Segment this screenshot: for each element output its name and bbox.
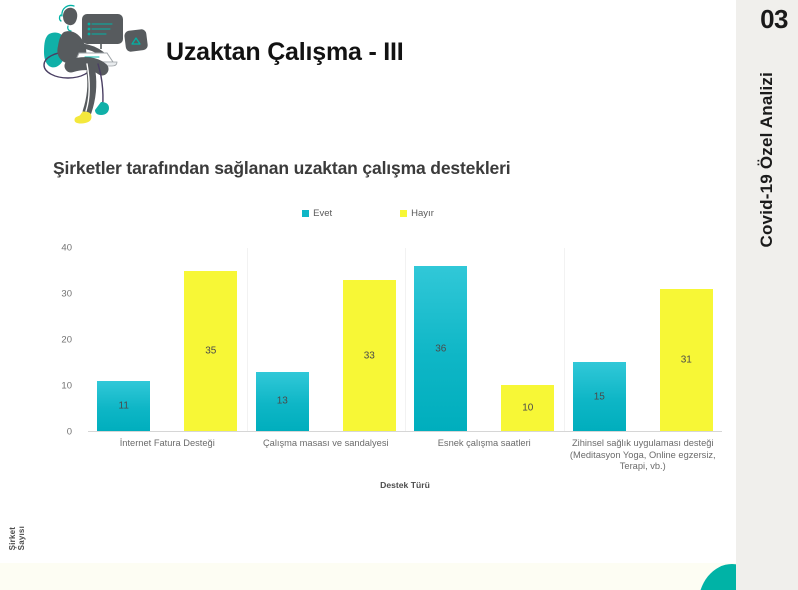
bar-groups: 11 35 13 33 — [88, 248, 722, 431]
legend-item-evet: Evet — [302, 208, 332, 219]
page-title: Uzaktan Çalışma - III — [166, 38, 404, 67]
x-axis-title: Destek Türü — [88, 480, 722, 490]
bar-value: 15 — [573, 391, 626, 402]
y-tick-10: 10 — [61, 381, 72, 392]
x-category-label: Esnek çalışma saatleri — [405, 438, 564, 473]
bar-value: 35 — [184, 345, 237, 356]
x-category-label: Çalışma masası ve sandalyesi — [247, 438, 406, 473]
chart-legend: Evet Hayır — [0, 208, 736, 219]
y-tick-40: 40 — [61, 243, 72, 254]
bar-group: 11 35 — [88, 248, 247, 431]
bar-value: 36 — [414, 343, 467, 354]
bar-group: 13 33 — [247, 248, 406, 431]
x-category-label: Zihinsel sağlık uygulaması desteği (Medi… — [564, 438, 723, 473]
plot-area: 11 35 13 33 — [88, 248, 722, 432]
x-category-label: İnternet Fatura Desteği — [88, 438, 247, 473]
slide-canvas: 03 Covid-19 Özel Analizi — [0, 0, 798, 590]
bar-hayir: 33 — [343, 280, 396, 431]
y-tick-20: 20 — [61, 335, 72, 346]
section-vertical-title: Covid-19 Özel Analizi — [757, 72, 777, 248]
chart-title: Şirketler tarafından sağlanan uzaktan ça… — [53, 158, 511, 179]
y-axis-ticks: 40 30 20 10 0 — [42, 248, 78, 432]
slide-header: Uzaktan Çalışma - III — [0, 0, 736, 140]
legend-item-hayir: Hayır — [400, 208, 434, 219]
bottom-cream-band — [0, 563, 736, 590]
bar-evet: 13 — [256, 372, 309, 431]
remote-worker-illustration — [35, 2, 165, 134]
bar-group: 15 31 — [564, 248, 723, 431]
bar-value: 31 — [660, 355, 713, 366]
bar-evet: 11 — [97, 381, 150, 431]
y-tick-0: 0 — [67, 427, 72, 438]
x-axis-category-labels: İnternet Fatura Desteği Çalışma masası v… — [88, 438, 722, 473]
bar-evet: 15 — [573, 362, 626, 431]
plot-wrapper: Şirket Sayısı 40 30 20 10 0 11 — [0, 248, 736, 508]
bar-value: 10 — [501, 403, 554, 414]
legend-label-evet: Evet — [313, 208, 332, 219]
legend-label-hayir: Hayır — [411, 208, 434, 219]
bar-group: 36 10 — [405, 248, 564, 431]
section-number: 03 — [760, 4, 788, 35]
legend-swatch-evet — [302, 210, 309, 217]
bar-value: 11 — [97, 400, 150, 411]
y-axis-title: Şirket Sayısı — [8, 526, 26, 550]
bar-hayir: 35 — [184, 271, 237, 431]
bar-value: 33 — [343, 350, 396, 361]
y-tick-30: 30 — [61, 289, 72, 300]
legend-swatch-hayir — [400, 210, 407, 217]
bar-value: 13 — [256, 396, 309, 407]
bar-hayir: 10 — [501, 385, 554, 431]
bar-evet: 36 — [414, 266, 467, 431]
right-sidebar: 03 Covid-19 Özel Analizi — [736, 0, 798, 590]
bar-hayir: 31 — [660, 289, 713, 431]
